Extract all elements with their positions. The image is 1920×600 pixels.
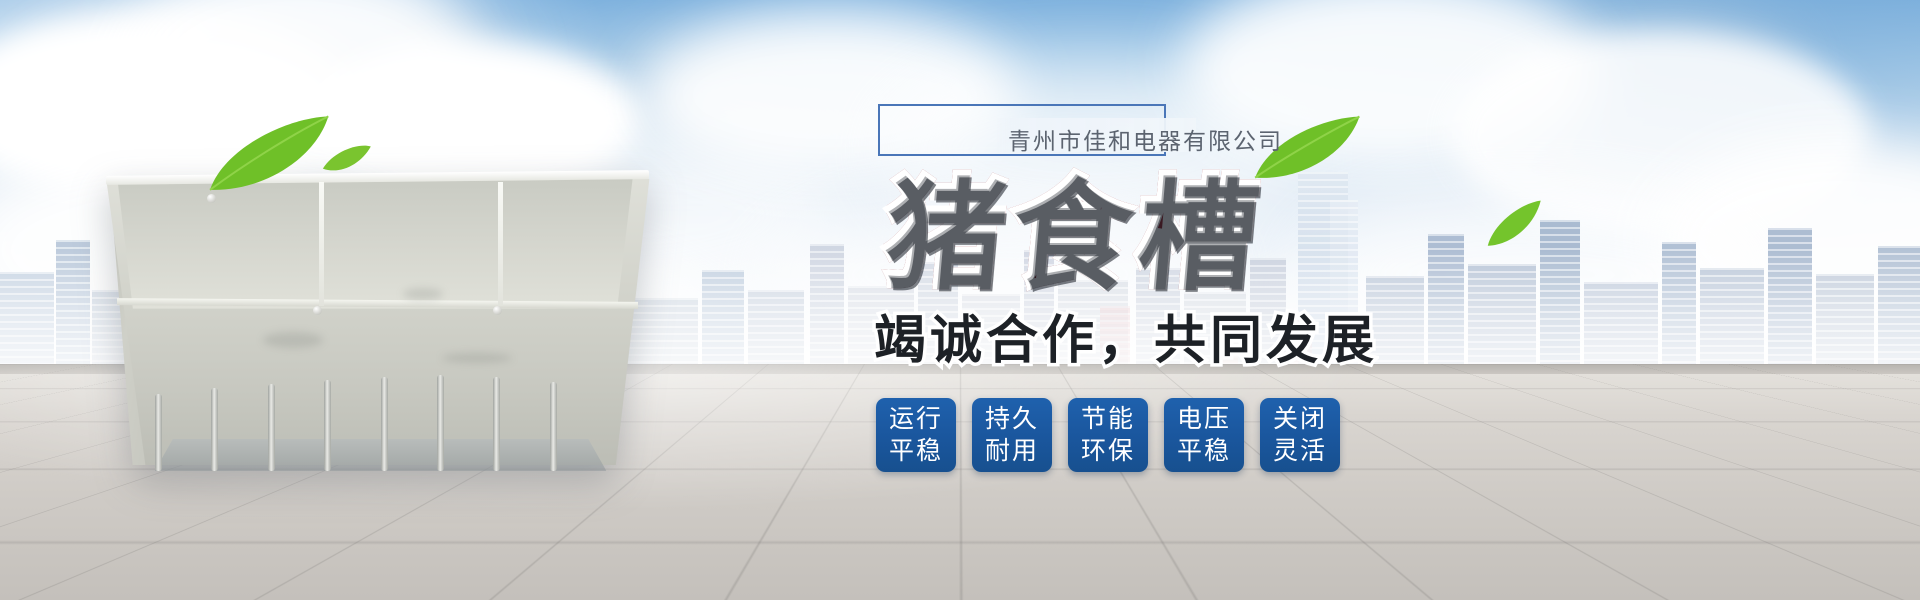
page-title: 猪食槽: [878, 168, 1586, 300]
feature-badge-5: 关闭 灵活: [1260, 398, 1340, 472]
feature-badge-5-line2: 灵活: [1273, 435, 1327, 467]
feature-badge-list: 运行 平稳 持久 耐用 节能 环保 电压 平稳 关闭 灵活: [876, 398, 1580, 472]
feature-badge-4: 电压 平稳: [1164, 398, 1244, 472]
feature-badge-3: 节能 环保: [1068, 398, 1148, 472]
feature-badge-4-line1: 电压: [1177, 403, 1231, 435]
page-title-text: 猪食槽: [878, 163, 1268, 304]
promo-banner: 青州市佳和电器有限公司 猪食槽 竭诚合作，共同发展 运行 平稳 持久 耐用 节能…: [0, 0, 1920, 600]
feature-badge-1-line1: 运行: [889, 403, 943, 435]
feature-badge-1-line2: 平稳: [889, 435, 943, 467]
product-photo-feeder: [95, 170, 655, 465]
feature-badge-2-line1: 持久: [985, 403, 1039, 435]
feature-badge-2: 持久 耐用: [972, 398, 1052, 472]
page-subtitle: 竭诚合作，共同发展: [874, 310, 1580, 372]
company-name-row: 青州市佳和电器有限公司: [860, 96, 1580, 166]
feature-badge-3-line2: 环保: [1081, 435, 1135, 467]
feature-badge-3-line1: 节能: [1081, 403, 1135, 435]
feature-badge-5-line1: 关闭: [1273, 403, 1327, 435]
banner-text-block: 青州市佳和电器有限公司 猪食槽 竭诚合作，共同发展 运行 平稳 持久 耐用 节能…: [860, 96, 1580, 472]
feature-badge-4-line2: 平稳: [1177, 435, 1231, 467]
feature-badge-1: 运行 平稳: [876, 398, 956, 472]
feature-badge-2-line2: 耐用: [985, 435, 1039, 467]
company-name: 青州市佳和电器有限公司: [1002, 122, 1289, 156]
